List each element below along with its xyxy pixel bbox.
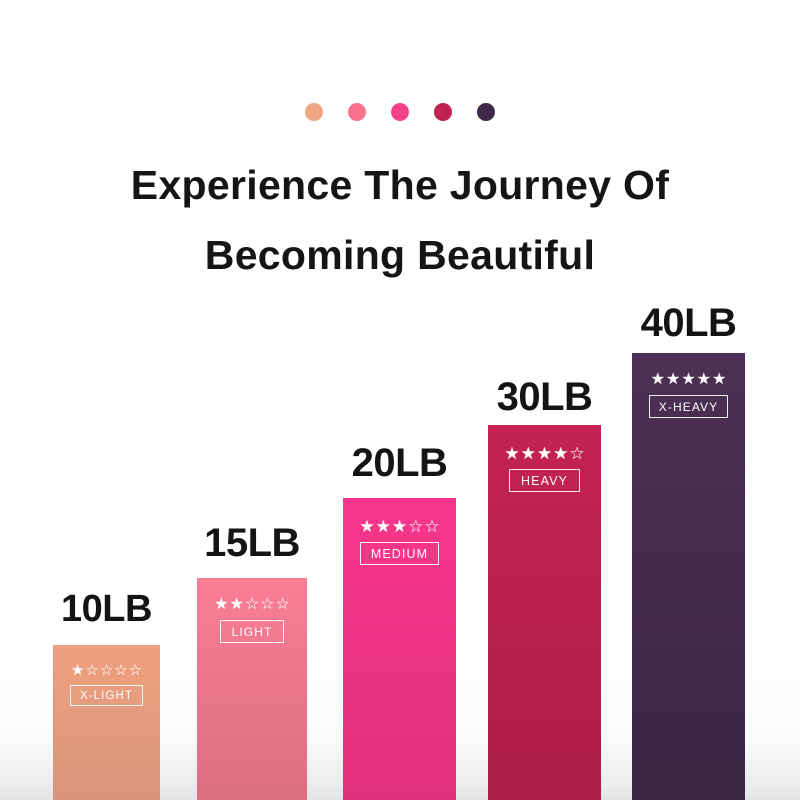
star-empty-icon: ☆ (245, 597, 259, 613)
star-rating-icon: ★☆☆☆☆ (71, 663, 142, 678)
star-filled-icon: ★ (666, 372, 680, 388)
star-rating-icon: ★★★☆☆ (359, 518, 439, 535)
star-filled-icon: ★ (504, 445, 519, 462)
decorative-dot-row (0, 103, 800, 121)
star-filled-icon: ★ (651, 372, 665, 388)
bar-body (632, 353, 745, 800)
star-rating-icon: ★★★★☆ (504, 445, 584, 462)
star-empty-icon: ☆ (408, 518, 423, 535)
star-filled-icon: ★ (214, 597, 228, 613)
bar-x-heavy[interactable]: 40LB★★★★★X-HEAVY (632, 353, 745, 800)
bar-weight-label: 20LB (343, 441, 456, 486)
star-filled-icon: ★ (376, 518, 391, 535)
bar-weight-label: 15LB (197, 521, 307, 566)
star-empty-icon: ☆ (424, 518, 439, 535)
tier-badge: X-HEAVY (649, 395, 729, 418)
star-empty-icon: ☆ (85, 663, 98, 678)
star-empty-icon: ☆ (260, 597, 274, 613)
bar-badge-group: ★★★★★X-HEAVY (632, 372, 745, 418)
page-title-line-2: Becoming Beautiful (0, 220, 800, 290)
star-rating-icon: ★★☆☆☆ (214, 597, 290, 613)
dot-medium-icon (391, 103, 409, 121)
tier-badge: LIGHT (220, 620, 285, 643)
bar-heavy[interactable]: 30LB★★★★☆HEAVY (488, 425, 601, 800)
star-empty-icon: ☆ (114, 663, 127, 678)
star-filled-icon: ★ (681, 372, 695, 388)
dot-heavy-icon (434, 103, 452, 121)
bar-badge-group: ★☆☆☆☆X-LIGHT (53, 663, 160, 706)
dot-light-icon (348, 103, 366, 121)
bar-badge-group: ★★★★☆HEAVY (488, 445, 601, 492)
star-filled-icon: ★ (521, 445, 536, 462)
star-filled-icon: ★ (392, 518, 407, 535)
tier-badge: HEAVY (509, 469, 580, 492)
dot-x-heavy-icon (477, 103, 495, 121)
star-filled-icon: ★ (359, 518, 374, 535)
page-title-line-1: Experience The Journey Of (131, 162, 669, 208)
dot-x-light-icon (305, 103, 323, 121)
star-empty-icon: ☆ (276, 597, 290, 613)
star-filled-icon: ★ (71, 663, 84, 678)
star-empty-icon: ☆ (100, 663, 113, 678)
star-filled-icon: ★ (712, 372, 726, 388)
bar-weight-label: 40LB (632, 301, 745, 346)
star-empty-icon: ☆ (129, 663, 142, 678)
bar-badge-group: ★★★☆☆MEDIUM (343, 518, 456, 565)
star-filled-icon: ★ (229, 597, 243, 613)
page-title: Experience The Journey Of Becoming Beaut… (0, 150, 800, 290)
star-empty-icon: ☆ (569, 445, 584, 462)
star-rating-icon: ★★★★★ (651, 372, 727, 388)
product-infographic: Experience The Journey Of Becoming Beaut… (0, 0, 800, 800)
bar-weight-label: 10LB (53, 588, 160, 631)
star-filled-icon: ★ (553, 445, 568, 462)
bar-x-light[interactable]: 10LB★☆☆☆☆X-LIGHT (53, 645, 160, 800)
tier-badge: X-LIGHT (70, 685, 143, 706)
star-filled-icon: ★ (697, 372, 711, 388)
bar-medium[interactable]: 20LB★★★☆☆MEDIUM (343, 498, 456, 800)
star-filled-icon: ★ (537, 445, 552, 462)
bar-light[interactable]: 15LB★★☆☆☆LIGHT (197, 578, 307, 800)
tier-badge: MEDIUM (360, 542, 439, 565)
bar-weight-label: 30LB (488, 375, 601, 420)
bar-badge-group: ★★☆☆☆LIGHT (197, 597, 307, 643)
